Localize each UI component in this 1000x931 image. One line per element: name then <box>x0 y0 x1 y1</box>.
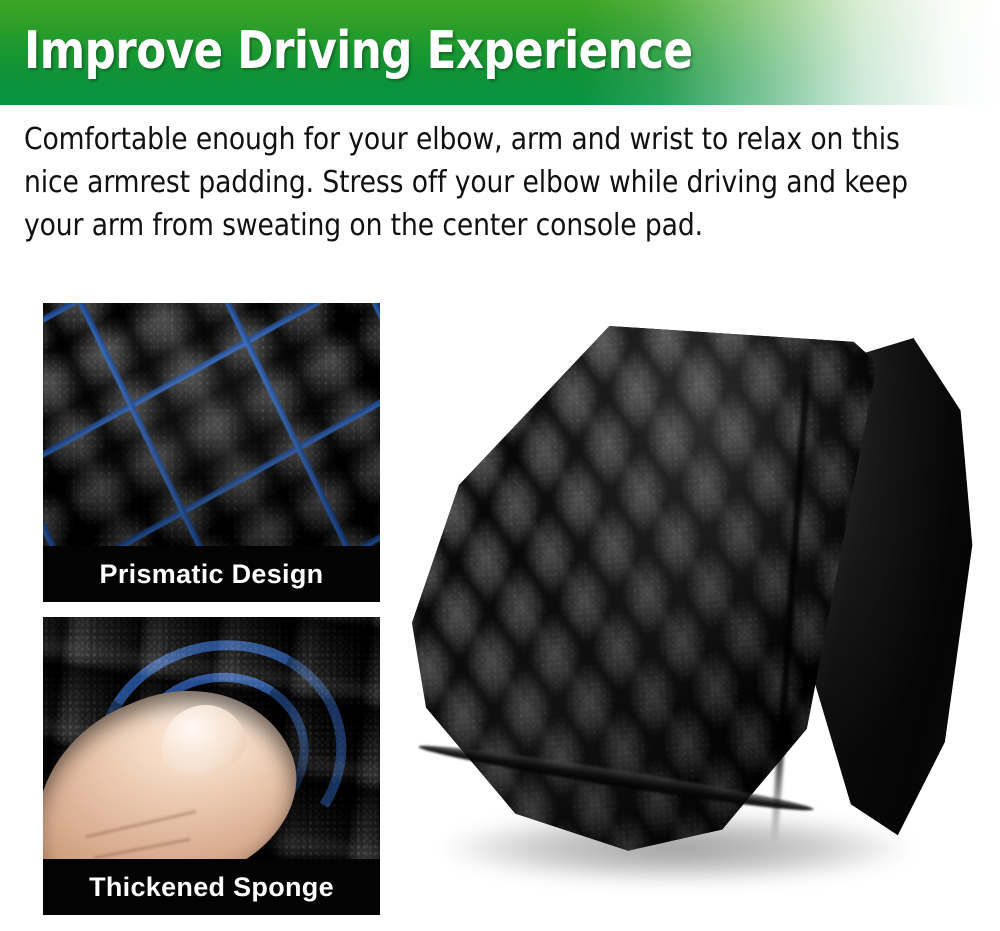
prismatic-label-text: Prismatic Design <box>100 559 324 590</box>
feature-card-sponge: Thickened Sponge <box>43 617 380 915</box>
description-paragraph: Comfortable enough for your elbow, arm a… <box>24 118 962 247</box>
prismatic-leather-photo <box>43 303 380 546</box>
fingernail <box>155 698 252 782</box>
finger-crease <box>85 810 197 839</box>
product-photo <box>400 300 1000 931</box>
sponge-label-bar: Thickened Sponge <box>43 859 380 915</box>
header-banner: Improve Driving Experience <box>0 0 1000 105</box>
sponge-label-text: Thickened Sponge <box>89 872 334 903</box>
finger-crease <box>94 838 191 859</box>
feature-card-prismatic: Prismatic Design <box>43 303 380 602</box>
page-title: Improve Driving Experience <box>24 22 693 80</box>
prismatic-label-bar: Prismatic Design <box>43 546 380 602</box>
sponge-press-photo <box>43 617 380 859</box>
blue-stitched-quilt-texture <box>43 303 380 546</box>
